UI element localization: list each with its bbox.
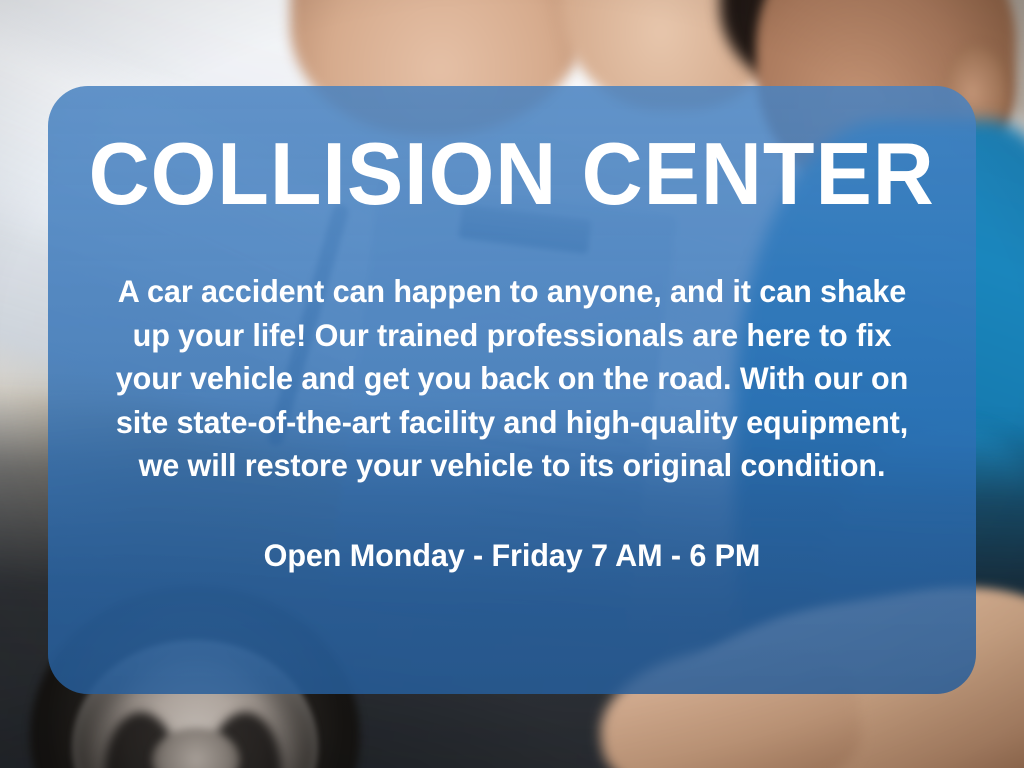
content-panel: COLLISION CENTER A car accident can happ… <box>48 86 976 694</box>
body-paragraph: A car accident can happen to anyone, and… <box>109 218 914 488</box>
business-hours: Open Monday - Friday 7 AM - 6 PM <box>264 488 761 578</box>
page-title: COLLISION CENTER <box>89 86 935 218</box>
promo-banner: COLLISION CENTER A car accident can happ… <box>0 0 1024 768</box>
panel-inner: COLLISION CENTER A car accident can happ… <box>48 86 976 694</box>
